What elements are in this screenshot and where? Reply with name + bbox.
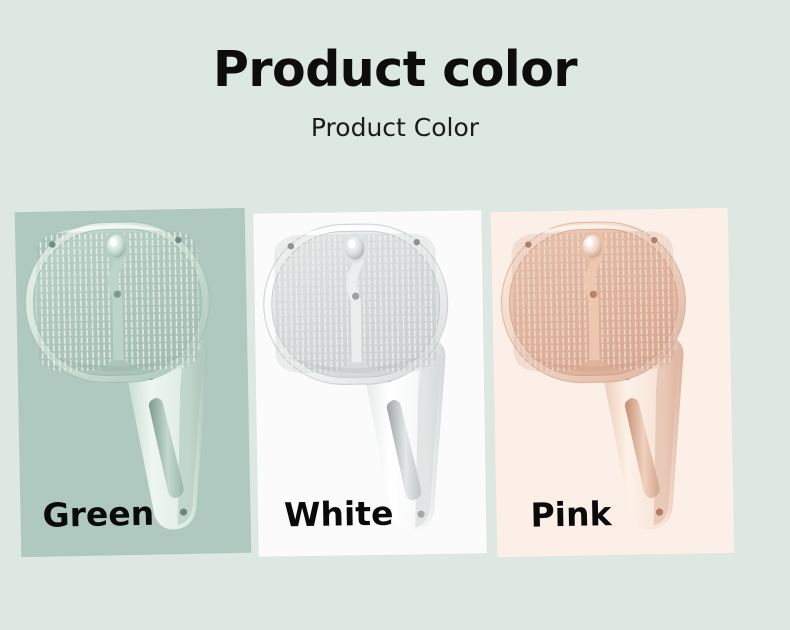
product-color-page: Product color Product Color: [0, 0, 790, 630]
color-swatch-panel-green[interactable]: Green: [15, 208, 252, 557]
color-swatch-panel-pink[interactable]: Pink: [491, 208, 735, 557]
product-image-pink: [491, 208, 735, 557]
color-label-pink: Pink: [530, 494, 612, 535]
color-label-green: Green: [42, 494, 154, 535]
color-gallery: Green: [0, 0, 790, 630]
color-swatch-panel-white[interactable]: White: [253, 210, 486, 557]
color-label-white: White: [284, 494, 394, 535]
